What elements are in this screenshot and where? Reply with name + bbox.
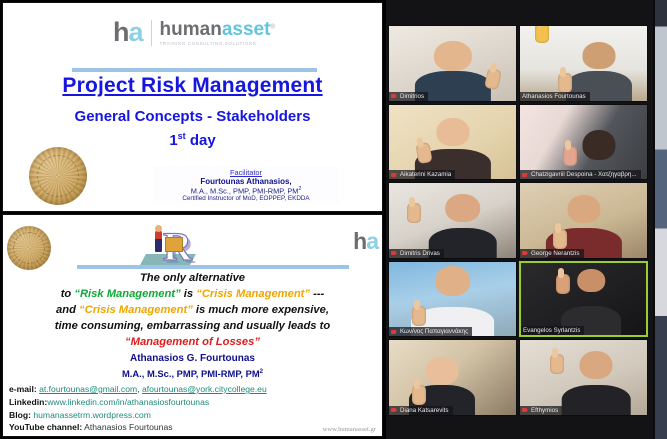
thumbs-up-gesture xyxy=(558,73,572,93)
shared-screen-pane[interactable]: ha humanasset® TRAINING.CONSULTING.SOLUT… xyxy=(0,0,386,439)
presenter-name: Athanasios G. Fourtounas xyxy=(3,353,382,364)
thumbs-up-gesture xyxy=(407,203,421,223)
participant-name: George Nerantzis xyxy=(531,250,580,257)
email-link-2[interactable]: afourtounas@york.citycollege.eu xyxy=(142,384,267,394)
participant-namebar: Aikaterini Kazamia xyxy=(389,170,455,179)
thumbs-up-reaction-icon xyxy=(535,25,549,43)
logo-tagline: TRAINING.CONSULTING.SOLUTIONS xyxy=(160,41,275,46)
video-tile[interactable]: Κων/νος Παπαγιαννάκης xyxy=(388,261,517,338)
participant-name: Athanasios Fourtounas xyxy=(522,93,586,100)
video-tile[interactable]: Diana Katsarevits xyxy=(388,339,517,416)
mic-muted-icon xyxy=(391,407,398,413)
mic-muted-icon xyxy=(391,93,398,99)
blog-label: Blog: xyxy=(9,410,31,420)
email-link-1[interactable]: at.fourtounas@gmail.com xyxy=(39,384,137,394)
linkedin-label: Linkedin: xyxy=(9,397,47,407)
participant-namebar: Diana Katsarevits xyxy=(389,406,453,415)
thumbs-up-gesture xyxy=(563,146,577,166)
presenter-credentials-sup: 2 xyxy=(260,369,263,375)
presenter-credentials: M.A., M.Sc., PMP, PMI-RMP, PM2 xyxy=(3,368,382,379)
background-desktop-sliver xyxy=(655,0,667,439)
pr-box-shape xyxy=(165,237,183,252)
presenter-credentials-text: M.A., M.Sc., PMP, PMI-RMP, PM xyxy=(122,368,260,379)
participant-head xyxy=(577,269,605,292)
humanasset-monogram: ha xyxy=(113,19,143,46)
quote-l3-a: and xyxy=(56,304,79,316)
video-grid: Dimitrios Athanasios Fourtounas xyxy=(388,25,648,416)
pr-person-head xyxy=(155,225,162,232)
quote-block: The only alternative to “Risk Management… xyxy=(3,271,382,351)
thumbs-up-gesture xyxy=(553,229,567,249)
email-label: e-mail: xyxy=(9,384,37,394)
facilitator-block: Facilitator Fourtounas Athanasios, M.A.,… xyxy=(153,166,339,203)
participant-name: Κων/νος Παπαγιαννάκης xyxy=(400,328,468,335)
video-tile[interactable]: Athanasios Fourtounas xyxy=(519,25,648,102)
participant-name: Dimitrios xyxy=(400,93,424,100)
mic-muted-icon xyxy=(391,329,398,335)
page-subtitle: General Concepts - Stakeholders xyxy=(3,108,382,125)
logo-letter-h: h xyxy=(113,17,129,47)
participant-head xyxy=(580,351,613,379)
quote-l2-a: to xyxy=(61,288,75,300)
participant-name: Aikaterini Kazamia xyxy=(400,171,451,178)
linkedin-link[interactable]: www.linkedin.com/in/athanasiosfourtounas xyxy=(47,397,209,407)
thumbs-up-gesture xyxy=(412,306,426,326)
quote-crisis-management-1: “Crisis Management” xyxy=(196,288,310,300)
humanasset-logo: ha humanasset® TRAINING.CONSULTING.SOLUT… xyxy=(113,19,275,46)
participant-name: Efthymios xyxy=(531,407,558,414)
video-tile[interactable]: Chatzigavriil Despoina - Χατζηγαβρη... xyxy=(519,104,648,181)
logo-word-human: human xyxy=(160,19,222,40)
zoom-meeting-window: ha humanasset® TRAINING.CONSULTING.SOLUT… xyxy=(0,0,667,439)
quote-rule xyxy=(77,265,349,269)
watermark: www.humanasset.gr xyxy=(323,426,376,433)
facilitator-institutions: Certified Instructor of MoD, EOPPEP, EKD… xyxy=(153,195,339,202)
phaistos-disc-image-2 xyxy=(7,226,51,270)
slide-title-page: ha humanasset® TRAINING.CONSULTING.SOLUT… xyxy=(2,2,383,212)
participant-head xyxy=(435,266,471,296)
day-word: day xyxy=(186,132,216,149)
participant-name: Evangelos Syrlantzis xyxy=(523,327,580,334)
youtube-channel-name: Athanasios Fourtounas xyxy=(84,422,172,432)
participant-namebar: Athanasios Fourtounas xyxy=(520,92,590,101)
logo-letter-a: a xyxy=(129,17,143,47)
video-tile[interactable]: George Nerantzis xyxy=(519,182,648,259)
video-tile[interactable]: Efthymios xyxy=(519,339,648,416)
participant-head xyxy=(445,194,481,222)
quote-line-2: to “Risk Management” is “Crisis Manageme… xyxy=(3,287,382,303)
quote-l2-b: is xyxy=(181,288,197,300)
contact-row-email: e-mail: at.fourtounas@gmail.com, afourto… xyxy=(9,384,378,394)
facilitator-credentials-sup: 2 xyxy=(298,186,301,192)
thumbs-up-gesture xyxy=(556,274,570,294)
quote-l3-b: is much more expensive, xyxy=(193,304,329,316)
thumbs-up-gesture xyxy=(412,385,426,405)
facilitator-label: Facilitator xyxy=(153,168,339,177)
participant-name: Dimitris Drivas xyxy=(400,250,440,257)
quote-risk-management: “Risk Management” xyxy=(74,288,180,300)
email-separator: , xyxy=(137,384,139,394)
video-tile-active-speaker[interactable]: Evangelos Syrlantzis xyxy=(519,261,648,338)
contact-row-linkedin: Linkedin:www.linkedin.com/in/athanasiosf… xyxy=(9,397,378,407)
mic-muted-icon xyxy=(391,250,398,256)
participant-name: Chatzigavriil Despoina - Χατζηγαβρη... xyxy=(531,171,637,178)
participant-head xyxy=(433,41,471,71)
mic-muted-icon xyxy=(522,172,529,178)
participant-namebar: Κων/νος Παπαγιαννάκης xyxy=(389,327,472,336)
video-tile[interactable]: Dimitris Drivas xyxy=(388,182,517,259)
facilitator-credentials-text: M.A., M.Sc., PMP, PMI-RMP, PM xyxy=(191,186,299,195)
quote-l2-c: --- xyxy=(310,288,324,300)
participant-namebar: George Nerantzis xyxy=(520,249,584,258)
logo-wordmark: humanasset® xyxy=(160,20,275,39)
humanasset-monogram-small: ha xyxy=(353,230,378,253)
participant-torso xyxy=(562,385,631,416)
participant-namebar: Evangelos Syrlantzis xyxy=(521,326,584,335)
video-tile[interactable]: Aikaterini Kazamia xyxy=(388,104,517,181)
page-title: Project Risk Management xyxy=(3,74,382,98)
mic-muted-icon xyxy=(391,172,398,178)
logo-letter-a-small: a xyxy=(366,228,378,254)
mic-muted-icon xyxy=(522,250,529,256)
quote-crisis-management-2: “Crisis Management” xyxy=(79,304,193,316)
slide-quote-page: R R ha The only alternative to “Risk Man… xyxy=(2,214,383,437)
project-risk-graphic: R R xyxy=(143,228,235,268)
quote-line-1: The only alternative xyxy=(3,271,382,287)
participant-head xyxy=(567,195,600,223)
participant-namebar: Efthymios xyxy=(520,406,562,415)
thumbs-up-gesture xyxy=(550,354,564,374)
video-tile[interactable]: Dimitrios xyxy=(388,25,517,102)
participant-namebar: Chatzigavriil Despoina - Χατζηγαβρη... xyxy=(520,170,641,179)
quote-line-3: and “Crisis Management” is much more exp… xyxy=(3,303,382,319)
registered-icon: ® xyxy=(270,24,274,30)
blog-link[interactable]: humanassetrm.wordpress.com xyxy=(33,410,151,420)
facilitator-credentials: M.A., M.Sc., PMP, PMI-RMP, PM2 xyxy=(153,186,339,195)
facilitator-name: Fourtounas Athanasios, xyxy=(153,177,339,186)
day-number: 1 xyxy=(169,132,177,149)
phaistos-disc-image xyxy=(29,147,87,205)
participant-video-pane: Dimitrios Athanasios Fourtounas xyxy=(386,0,667,439)
participant-head xyxy=(436,118,469,146)
quote-line-4: time consuming, embarrassing and usually… xyxy=(3,319,382,335)
logo-word-asset: asset xyxy=(222,19,271,40)
pr-person-figure xyxy=(155,230,162,252)
participant-namebar: Dimitris Drivas xyxy=(389,249,444,258)
humanasset-logo-small: ha xyxy=(353,230,378,253)
contact-row-blog: Blog: humanassetrm.wordpress.com xyxy=(9,410,378,420)
participant-namebar: Dimitrios xyxy=(389,92,428,101)
participant-head xyxy=(582,130,615,160)
day-ordinal: st xyxy=(178,131,186,141)
logo-letter-h-small: h xyxy=(353,228,366,254)
participant-head xyxy=(582,42,615,69)
title-rule xyxy=(72,68,317,72)
participant-head xyxy=(426,357,459,385)
quote-management-of-losses: “Management of Losses” xyxy=(3,335,382,351)
participant-name: Diana Katsarevits xyxy=(400,407,449,414)
youtube-label: YouTube channel: xyxy=(9,422,82,432)
mic-muted-icon xyxy=(522,407,529,413)
logo-divider xyxy=(151,20,152,46)
